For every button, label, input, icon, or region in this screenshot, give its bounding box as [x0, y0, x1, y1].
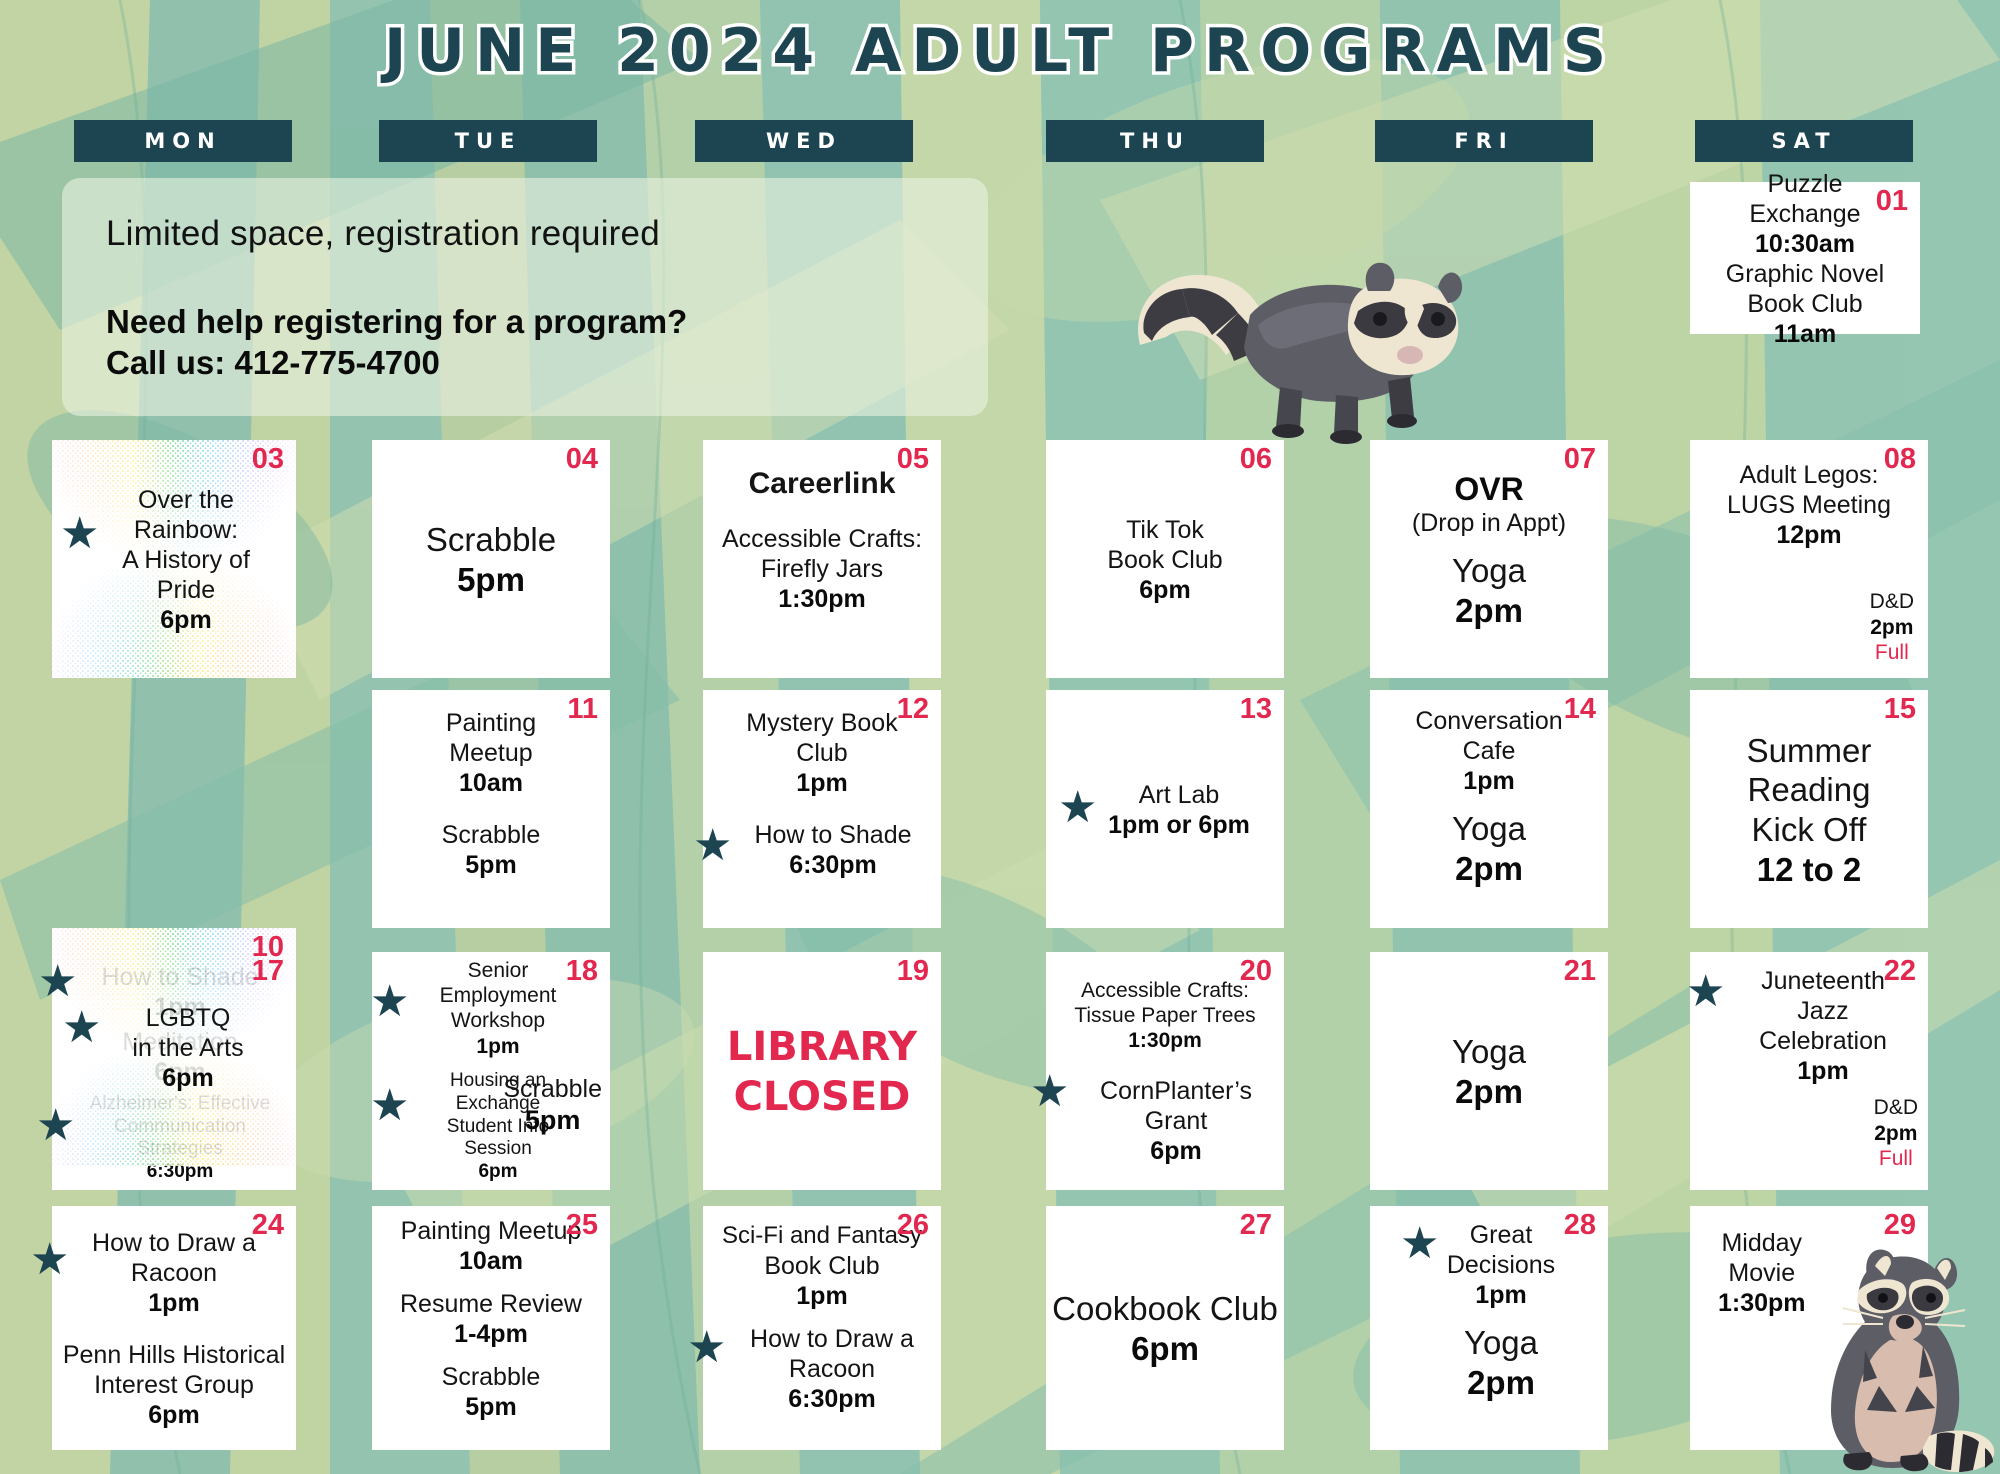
event-tik-tok-book-club: Tik Tok Book Club 6pm — [1107, 515, 1222, 605]
event-lgbtq-in-the-arts: LGBTQ in the Arts 6pm — [132, 1003, 243, 1093]
day-number-04: 04 — [566, 445, 598, 474]
notice-phone: Call us: 412-775-4700 — [106, 344, 988, 382]
event-puzzle-exchange: Puzzle Exchange 10:30am — [1749, 169, 1860, 259]
event-penn-hills-historical-interest-group: Penn Hills Historical Interest Group 6pm — [63, 1340, 285, 1430]
star-icon: ★ — [1030, 1070, 1069, 1114]
day-number-08: 08 — [1884, 445, 1916, 474]
day-number-05: 05 — [897, 445, 929, 474]
event-accessible-crafts-tissue-paper-trees: Accessible Crafts: Tissue Paper Trees 1:… — [1074, 978, 1255, 1054]
calendar-cell-26[interactable]: 26 ★ Sci-Fi and Fantasy Book Club 1pm Ho… — [703, 1206, 941, 1450]
event-over-the-rainbow: Over the Rainbow: A History of Pride 6pm — [122, 485, 250, 635]
event-how-to-shade: How to Shade 6:30pm — [732, 820, 911, 880]
event-scrabble: Scrabble 5pm — [426, 520, 556, 599]
event-accessible-crafts-firefly-jars: Accessible Crafts: Firefly Jars 1:30pm — [722, 524, 922, 614]
day-number-20: 20 — [1240, 957, 1272, 986]
weekday-header-mon: MON — [74, 120, 292, 162]
event-resume-review: Resume Review 1-4pm — [400, 1289, 582, 1349]
event-mystery-book-club: Mystery Book Club 1pm — [746, 708, 897, 798]
weekday-header-fri: FRI — [1375, 120, 1593, 162]
day-number-01: 01 — [1876, 187, 1908, 216]
event-scrabble: Scrabble 5pm — [442, 1362, 541, 1422]
event-graphic-novel-book-club: Graphic Novel Book Club 11am — [1726, 259, 1884, 349]
calendar-cell-11[interactable]: 11 Painting Meetup 10am Scrabble 5pm — [372, 690, 610, 928]
day-number-13: 13 — [1240, 695, 1272, 724]
event-senior-employment-workshop: Senior Employment Workshop 1pm — [440, 958, 557, 1059]
page-title-text: JUNE 2024 ADULT PROGRAMS — [384, 16, 1616, 86]
day-number-21: 21 — [1564, 957, 1596, 986]
event-careerlink: Careerlink — [749, 466, 896, 502]
day-number-24: 24 — [252, 1211, 284, 1240]
calendar-cell-15[interactable]: 15 Summer Reading Kick Off 12 to 2 — [1690, 690, 1928, 928]
event-juneteenth-jazz-celebration: Juneteenth Jazz Celebration 1pm — [1759, 966, 1887, 1086]
event-art-lab: Art Lab 1pm or 6pm — [1108, 780, 1250, 840]
event-great-decisions: Great Decisions 1pm — [1447, 1220, 1555, 1310]
event-adult-legos-lugs: Adult Legos: LUGS Meeting 12pm — [1727, 460, 1891, 550]
calendar-cell-20[interactable]: 20 ★ Accessible Crafts: Tissue Paper Tre… — [1046, 952, 1284, 1190]
status-library-closed: LIBRARY CLOSED — [727, 1022, 917, 1122]
day-number-12: 12 — [897, 695, 929, 724]
calendar-cell-21[interactable]: 21 Yoga 2pm — [1370, 952, 1608, 1190]
star-icon: ★ — [36, 1104, 75, 1148]
event-painting-meetup: Painting Meetup 10am — [401, 1216, 582, 1276]
calendar-cell-01[interactable]: 01 Puzzle Exchange 10:30am Graphic Novel… — [1690, 182, 1920, 334]
star-icon: ★ — [693, 824, 732, 868]
raccoon-sitting-illustration — [1805, 1230, 2000, 1474]
calendar-cell-22[interactable]: 22 ★ Juneteenth Jazz Celebration 1pm D&D… — [1690, 952, 1928, 1190]
star-icon: ★ — [1058, 786, 1097, 830]
calendar-cell-07[interactable]: 07 OVR (Drop in Appt) Yoga 2pm — [1370, 440, 1608, 678]
notice-need-help: Need help registering for a program? — [106, 300, 988, 344]
star-icon: ★ — [1400, 1222, 1439, 1266]
calendar-cell-14[interactable]: 14 Conversation Cafe 1pm Yoga 2pm — [1370, 690, 1608, 928]
day-number-14: 14 — [1564, 695, 1596, 724]
star-icon: ★ — [60, 512, 99, 556]
event-painting-meetup: Painting Meetup 10am — [446, 708, 536, 798]
star-icon: ★ — [30, 1238, 69, 1282]
calendar-cell-08[interactable]: 08 Adult Legos: LUGS Meeting 12pm D&D 2p… — [1690, 440, 1928, 678]
calendar-cell-13[interactable]: 13 ★ Art Lab 1pm or 6pm — [1046, 690, 1284, 928]
event-scrabble: Scrabble 5pm — [442, 820, 541, 880]
event-dnd: D&D 2pm Full — [1870, 589, 1914, 666]
calendar-cell-04[interactable]: 04 Scrabble 5pm — [372, 440, 610, 678]
page-title: JUNE 2024 ADULT PROGRAMS — [0, 16, 2000, 86]
day-number-22: 22 — [1884, 957, 1916, 986]
event-dnd: D&D 2pm Full — [1874, 1095, 1918, 1172]
calendar-cell-12[interactable]: 12 ★ Mystery Book Club 1pm How to Shade … — [703, 690, 941, 928]
event-yoga: Yoga 2pm — [1452, 1032, 1526, 1111]
calendar-cell-28[interactable]: 28 ★ Great Decisions 1pm Yoga 2pm — [1370, 1206, 1608, 1450]
star-icon: ★ — [62, 1006, 101, 1050]
event-conversation-cafe: Conversation Cafe 1pm — [1415, 706, 1562, 796]
day-number-17: 17 — [252, 957, 284, 986]
event-scrabble: Scrabble 5pm — [503, 1074, 602, 1136]
star-icon: ★ — [370, 980, 409, 1024]
event-cornplanters-grant: CornPlanter’s Grant 6pm — [1078, 1076, 1252, 1166]
notice-limited-space: Limited space, registration required — [106, 214, 988, 254]
event-yoga: Yoga 2pm — [1464, 1323, 1538, 1402]
event-how-to-draw-a-racoon: How to Draw a Racoon 1pm — [92, 1228, 256, 1318]
event-yoga: Yoga 2pm — [1452, 551, 1526, 630]
calendar-cell-18[interactable]: 18 ★ ★ Senior Employment Workshop 1pm Ho… — [372, 952, 610, 1190]
day-number-25: 25 — [566, 1211, 598, 1240]
calendar-cell-24[interactable]: 24 ★ How to Draw a Racoon 1pm Penn Hills… — [52, 1206, 296, 1450]
day-number-11: 11 — [567, 695, 598, 724]
day-number-18: 18 — [566, 957, 598, 986]
day-number-15: 15 — [1884, 695, 1916, 724]
calendar-cell-05[interactable]: 05 Careerlink Accessible Crafts: Firefly… — [703, 440, 941, 678]
event-midday-movie: Midday Movie 1:30pm — [1718, 1228, 1806, 1318]
day-number-19: 19 — [897, 957, 929, 986]
calendar-cell-03[interactable]: 03 ★ Over the Rainbow: A History of Prid… — [52, 440, 296, 678]
star-icon: ★ — [370, 1084, 409, 1128]
day-number-07: 07 — [1564, 445, 1596, 474]
weekday-header-sat: SAT — [1695, 120, 1913, 162]
day-number-26: 26 — [897, 1211, 929, 1240]
day-number-27: 27 — [1240, 1211, 1272, 1240]
star-icon: ★ — [687, 1326, 726, 1370]
raccoon-walking-illustration — [1130, 195, 1470, 445]
day-number-28: 28 — [1564, 1211, 1596, 1240]
event-sci-fi-and-fantasy-book-club: Sci-Fi and Fantasy Book Club 1pm — [722, 1222, 922, 1311]
event-yoga: Yoga 2pm — [1452, 809, 1526, 888]
star-icon: ★ — [1686, 970, 1725, 1014]
day-number-03: 03 — [252, 445, 284, 474]
day-number-06: 06 — [1240, 445, 1272, 474]
weekday-header-wed: WED — [695, 120, 913, 162]
star-icon: ★ — [38, 960, 77, 1004]
calendar-cell-06[interactable]: 06 Tik Tok Book Club 6pm — [1046, 440, 1284, 678]
weekday-header-row: MON TUE WED THU FRI SAT — [0, 120, 2000, 162]
weekday-header-thu: THU — [1046, 120, 1264, 162]
event-cookbook-club: Cookbook Club 6pm — [1052, 1289, 1278, 1368]
calendar-cell-25[interactable]: 25 Painting Meetup 10am Resume Review 1-… — [372, 1206, 610, 1450]
day-number-29: 29 — [1884, 1211, 1916, 1240]
event-ovr: OVR (Drop in Appt) — [1412, 470, 1566, 538]
registration-notice-panel: Limited space, registration required Nee… — [62, 178, 988, 416]
weekday-header-tue: TUE — [379, 120, 597, 162]
event-how-to-draw-a-racoon: How to Draw a Racoon 6:30pm — [730, 1324, 914, 1414]
calendar-cell-19[interactable]: 19 LIBRARY CLOSED — [703, 952, 941, 1190]
calendar-cell-27[interactable]: 27 Cookbook Club 6pm — [1046, 1206, 1284, 1450]
event-summer-reading-kick-off: Summer Reading Kick Off 12 to 2 — [1747, 731, 1872, 889]
